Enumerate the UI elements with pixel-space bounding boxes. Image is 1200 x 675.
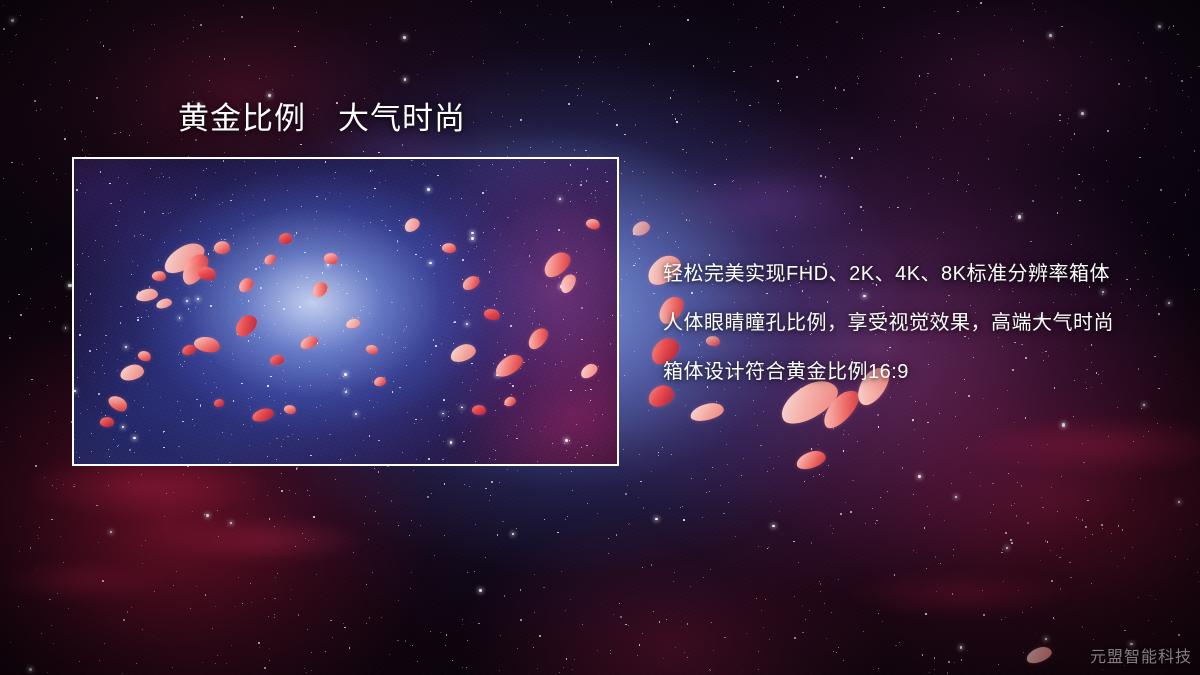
watermark-label: 元盟智能科技 [1090,643,1192,667]
body-line-2: 人体眼睛瞳孔比例，享受视觉效果，高端大气时尚 [663,306,1114,335]
page-title: 黄金比例 大气时尚 [178,100,466,139]
body-line-3: 箱体设计符合黄金比例16:9 [663,355,1114,384]
petal [1024,644,1053,665]
petal [646,382,677,409]
petal [689,401,726,424]
body-line-1: 轻松完美实现FHD、2K、4K、8K标准分辨率箱体 [663,257,1114,286]
body-text-block: 轻松完美实现FHD、2K、4K、8K标准分辨率箱体 人体眼睛瞳孔比例，享受视觉效… [663,257,1114,384]
petal [794,448,827,472]
petal [214,399,224,407]
framed-image-grain [74,159,617,464]
slide-canvas: 黄金比例 大气时尚 轻松完美实现FHD、2K、4K、8K标准分辨率箱体 人体眼睛… [0,0,1200,675]
framed-image [72,157,619,466]
petal [630,219,651,237]
